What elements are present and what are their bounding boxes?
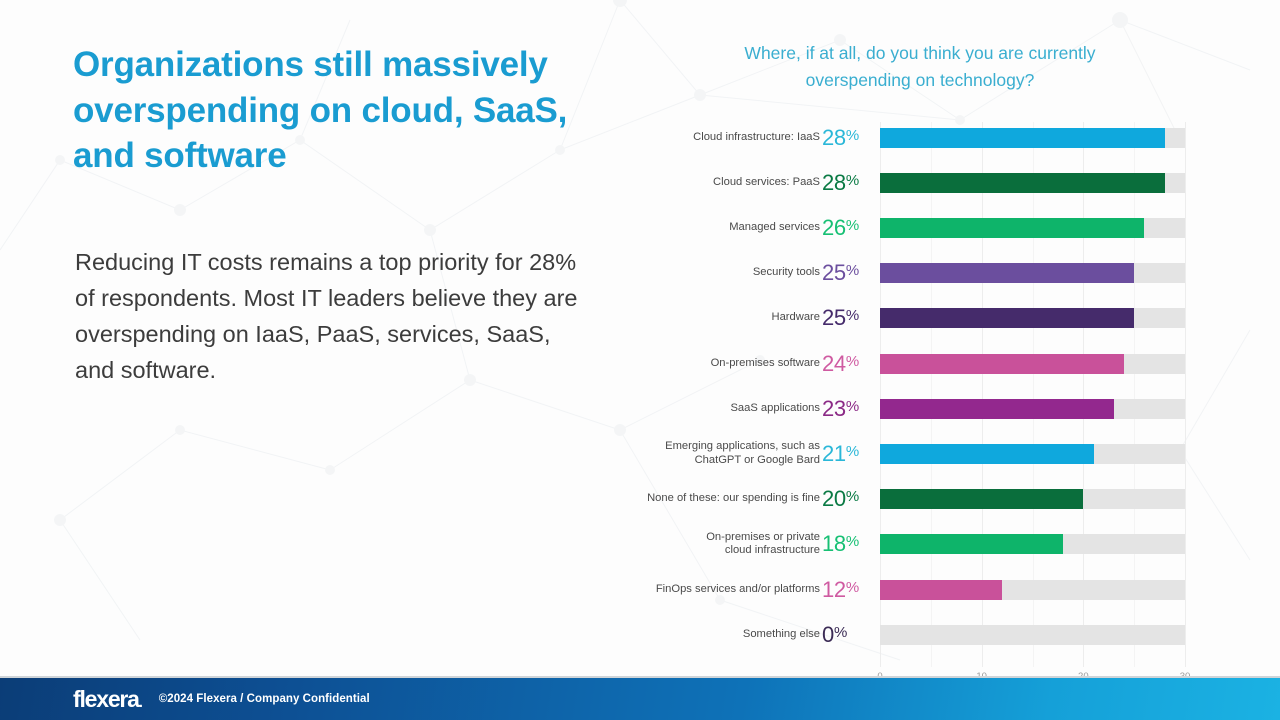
chart-row: None of these: our spending is fine20% [640,488,1240,511]
chart-row-value: 24% [822,351,878,377]
chart-row: Cloud services: PaaS28% [640,171,1240,194]
chart-row-value: 28% [822,170,878,196]
flexera-logo-text: flexera [73,686,139,712]
chart-row-value: 21% [822,441,878,467]
chart-row-label: Managed services [632,221,820,235]
chart-row: Security tools25% [640,262,1240,285]
chart-row-label: On-premises or private cloud infrastruct… [632,531,820,558]
chart-row-label: Something else [632,628,820,642]
chart-row: On-premises or private cloud infrastruct… [640,533,1240,556]
chart-row-label: Hardware [632,311,820,325]
chart-bar [880,354,1124,374]
chart-bar [880,580,1002,600]
chart-row-value: 23% [822,396,878,422]
slide-canvas: Organizations still massively overspendi… [0,0,1280,720]
flexera-logo: flexera. [73,688,142,711]
chart-bar-track [880,218,1185,238]
chart-row: Something else0% [640,623,1240,646]
chart-bar-track [880,534,1185,554]
chart-bar-track [880,128,1185,148]
chart-row-label: FinOps services and/or platforms [632,583,820,597]
chart-row-label: SaaS applications [632,402,820,416]
chart-bar-track [880,308,1185,328]
slide-footer: flexera. ©2024 Flexera / Company Confide… [0,678,1280,720]
left-content-panel: Organizations still massively overspendi… [73,42,613,179]
chart-row-value: 0% [822,622,878,648]
chart-bar [880,128,1165,148]
chart-bar [880,218,1144,238]
chart-row-value: 26% [822,215,878,241]
chart-row: SaaS applications23% [640,397,1240,420]
chart-row-value: 25% [822,305,878,331]
chart-row-label: Emerging applications, such as ChatGPT o… [632,440,820,467]
chart-row-label: On-premises software [632,357,820,371]
chart-row-label: Security tools [632,266,820,280]
chart-bar-track [880,625,1185,645]
chart-bar-track [880,444,1185,464]
chart-bar [880,489,1083,509]
chart-bar-track [880,580,1185,600]
chart-bar-track [880,489,1185,509]
slide-title: Organizations still massively overspendi… [73,42,613,179]
footer-copyright: ©2024 Flexera / Company Confidential [159,693,370,705]
chart-bar-track [880,354,1185,374]
chart-bar [880,444,1094,464]
chart-question-title: Where, if at all, do you think you are c… [640,40,1200,93]
chart-bar [880,173,1165,193]
chart-row-value: 12% [822,577,878,603]
chart-bar [880,534,1063,554]
chart-row: Cloud infrastructure: IaaS28% [640,126,1240,149]
chart-row: FinOps services and/or platforms12% [640,578,1240,601]
chart-row: Emerging applications, such as ChatGPT o… [640,442,1240,465]
chart-row-value: 18% [822,531,878,557]
chart-row-value: 20% [822,486,878,512]
slide-body-text: Reducing IT costs remains a top priority… [75,245,595,389]
chart-bar-track [880,399,1185,419]
chart-row-label: Cloud services: PaaS [632,176,820,190]
chart-bar-track [880,173,1185,193]
chart-bar [880,263,1134,283]
chart-bar [880,399,1114,419]
flexera-logo-dot: . [139,694,142,711]
chart-row: Hardware25% [640,307,1240,330]
chart-row-label: None of these: our spending is fine [632,492,820,506]
chart-row: Managed services26% [640,216,1240,239]
bar-chart: Cloud infrastructure: IaaS28%Cloud servi… [640,122,1240,667]
chart-row-value: 28% [822,125,878,151]
chart-row-label: Cloud infrastructure: IaaS [632,131,820,145]
chart-bar-track [880,263,1185,283]
chart-row-value: 25% [822,260,878,286]
chart-panel: Where, if at all, do you think you are c… [640,40,1240,670]
chart-bar [880,308,1134,328]
chart-row: On-premises software24% [640,352,1240,375]
